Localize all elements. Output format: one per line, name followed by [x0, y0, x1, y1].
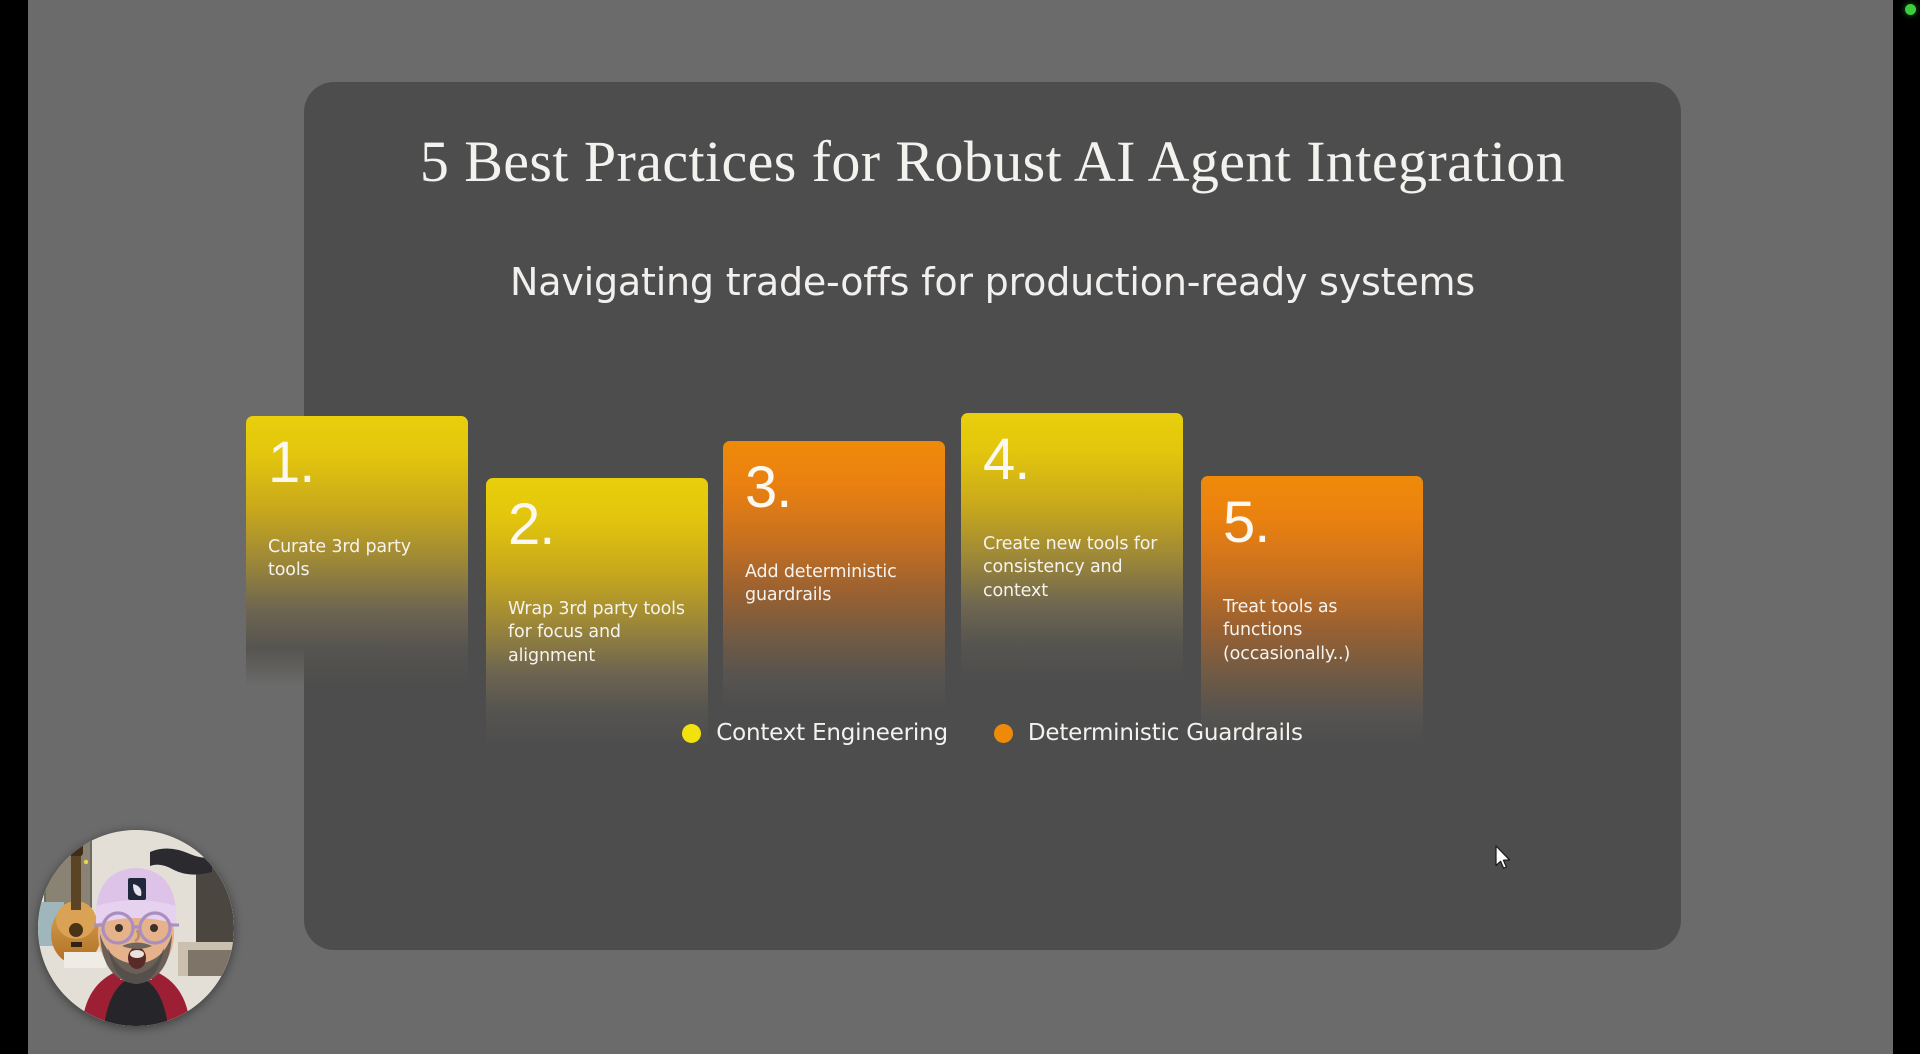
- practice-card-number: 2.: [508, 496, 554, 554]
- slide-legend: Context Engineering Deterministic Guardr…: [304, 720, 1681, 746]
- practice-card-2[interactable]: 2. Wrap 3rd party tools for focus and al…: [486, 478, 708, 748]
- presenter-video-frame: [38, 830, 234, 1026]
- presenter-webcam-bubble[interactable]: [38, 830, 234, 1026]
- legend-dot-icon: [682, 724, 701, 743]
- practice-card-4[interactable]: 4. Create new tools for consistency and …: [961, 413, 1183, 683]
- practice-cards-group: 1. Curate 3rd party tools 2. Wrap 3rd pa…: [304, 82, 1681, 950]
- practice-card-number: 3.: [745, 459, 791, 517]
- pillarbox-left: [0, 0, 28, 1054]
- practice-card-number: 5.: [1223, 494, 1269, 552]
- legend-label: Context Engineering: [716, 720, 948, 746]
- shared-screen-stage: 5 Best Practices for Robust AI Agent Int…: [28, 0, 1893, 1054]
- practice-card-description: Wrap 3rd party tools for focus and align…: [508, 598, 692, 668]
- legend-item-context-engineering: Context Engineering: [682, 720, 948, 746]
- practice-card-description: Treat tools as functions (occasionally..…: [1223, 596, 1407, 666]
- practice-card-description: Curate 3rd party tools: [268, 536, 452, 583]
- practice-card-description: Add deterministic guardrails: [745, 561, 929, 608]
- practice-card-1[interactable]: 1. Curate 3rd party tools: [246, 416, 468, 686]
- legend-dot-icon: [994, 724, 1013, 743]
- presentation-slide: 5 Best Practices for Robust AI Agent Int…: [304, 82, 1681, 950]
- legend-item-deterministic-guardrails: Deterministic Guardrails: [994, 720, 1303, 746]
- practice-card-number: 4.: [983, 431, 1029, 489]
- practice-card-3[interactable]: 3. Add deterministic guardrails: [723, 441, 945, 711]
- practice-card-5[interactable]: 5. Treat tools as functions (occasionall…: [1201, 476, 1423, 746]
- legend-label: Deterministic Guardrails: [1028, 720, 1303, 746]
- practice-card-number: 1.: [268, 434, 314, 492]
- pillarbox-right: [1893, 0, 1920, 1054]
- practice-card-description: Create new tools for consistency and con…: [983, 533, 1167, 603]
- mouse-cursor-icon: [1494, 845, 1514, 871]
- recording-indicator-dot: [1905, 4, 1916, 15]
- screen-share-window: 5 Best Practices for Robust AI Agent Int…: [0, 0, 1920, 1054]
